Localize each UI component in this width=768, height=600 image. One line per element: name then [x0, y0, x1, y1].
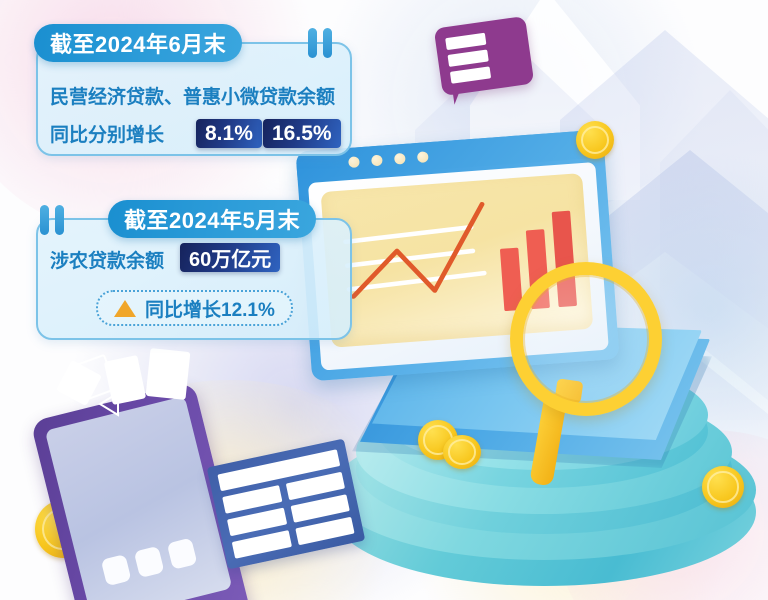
badge-agri-loan-balance: 60万亿元	[180, 243, 280, 272]
tick-bar-2	[323, 28, 332, 58]
card-june-header: 截至2024年6月末	[34, 24, 242, 62]
bubble-line-2	[448, 49, 489, 66]
magnifying-glass	[498, 262, 648, 492]
coin-icon-right	[702, 466, 744, 508]
browser-dots	[348, 151, 429, 168]
growth-pill-may: 同比增长12.1%	[96, 290, 293, 326]
floating-card-2	[146, 348, 191, 400]
browser-dot-1	[348, 156, 360, 168]
coin-icon-top-right	[576, 121, 614, 159]
phone-app-icon-3	[167, 538, 198, 570]
card-may-line-1-prefix: 涉农贷款余额	[50, 246, 164, 273]
browser-dot-3	[394, 153, 406, 165]
document-rows	[217, 449, 354, 558]
document-cell	[295, 517, 355, 546]
coin-icon-podium-b	[443, 435, 481, 469]
phone-app-icon-1	[101, 554, 132, 586]
card-june-line-1: 民营经济贷款、普惠小微贷款余额	[50, 82, 335, 109]
document-bubble-icon	[434, 16, 535, 96]
bubble-tail	[452, 84, 472, 104]
infographic-canvas: 截至2024年6月末 民营经济贷款、普惠小微贷款余额 同比分别增长 8.1% 1…	[0, 0, 768, 600]
card-june-line-2-prefix: 同比分别增长	[50, 120, 164, 147]
coin-rim	[707, 471, 738, 502]
document-cell	[232, 530, 292, 559]
browser-dot-4	[417, 151, 429, 163]
growth-pill-label: 同比增长12.1%	[145, 295, 275, 322]
up-triangle-icon	[114, 300, 136, 317]
tick-marks-may	[40, 205, 64, 235]
coin-rim	[448, 439, 476, 464]
tick-marks-june	[308, 28, 332, 58]
card-may-header: 截至2024年5月末	[108, 200, 316, 238]
bubble-line-column	[445, 33, 491, 84]
badge-growth-inclusive-micro: 16.5%	[263, 119, 341, 148]
browser-dot-2	[371, 155, 383, 167]
magnifier-lens	[510, 262, 662, 416]
coin-rim	[581, 126, 609, 154]
badge-growth-private-economy: 8.1%	[196, 119, 262, 148]
tick-bar-2	[55, 205, 64, 235]
phone-app-icon-2	[134, 546, 165, 578]
tick-bar-1	[308, 28, 317, 58]
play-triangle-outline-icon	[96, 390, 126, 418]
phone-app-row	[101, 538, 198, 587]
tick-bar-1	[40, 205, 49, 235]
